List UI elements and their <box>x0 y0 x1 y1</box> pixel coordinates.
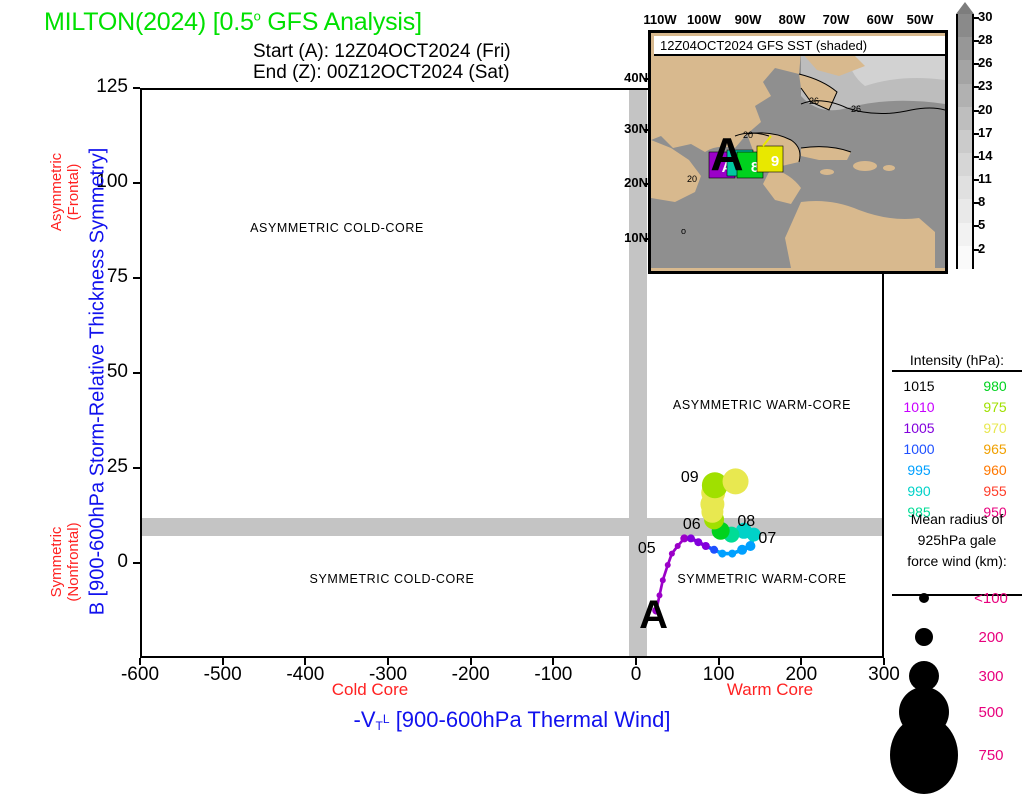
intensity-legend-row: 995960 <box>890 460 1024 481</box>
radius-dot <box>915 628 933 646</box>
intensity-legend-row: 1005970 <box>890 418 1024 439</box>
colorbar-label: 17 <box>978 125 992 140</box>
track-day-label-07: 07 <box>758 530 776 548</box>
x-tick-mark <box>387 658 389 665</box>
track-day-label-06: 06 <box>683 516 701 534</box>
intensity-value-right: 965 <box>972 439 1018 460</box>
map-lon-label: 100W <box>681 12 727 27</box>
colorbar-label: 14 <box>978 148 992 163</box>
x-axis-note-cold-core: Cold Core <box>280 680 460 700</box>
map-title: 12Z04OCT2024 GFS SST (shaded) <box>654 36 948 56</box>
map-lat-tick <box>644 183 650 185</box>
x-tick-mark <box>304 658 306 665</box>
colorbar-label: 30 <box>978 9 992 24</box>
colorbar-top-arrow <box>956 2 974 14</box>
sst-contour-label-20: 20 <box>743 130 753 140</box>
x-tick-mark <box>800 658 802 665</box>
colorbar-label: 11 <box>978 171 992 186</box>
track-point[interactable] <box>687 534 695 542</box>
map-lat-label: 40N <box>608 70 648 85</box>
intensity-legend-row: 1000965 <box>890 439 1024 460</box>
map-lat-label: 20N <box>608 175 648 190</box>
colorbar-segment <box>956 60 974 83</box>
sst-contour-label-26b: 26 <box>851 104 861 114</box>
x-tick-label: -600 <box>100 664 180 686</box>
colorbar-segment <box>956 153 974 176</box>
track-point[interactable] <box>665 562 671 568</box>
land-puerto-rico <box>883 165 895 171</box>
x-tick-label: -100 <box>513 664 593 686</box>
colorbar-segment <box>956 130 974 153</box>
colorbar-segment <box>956 37 974 60</box>
map-lat-label: 10N <box>608 230 648 245</box>
map-lon-label: 50W <box>897 12 943 27</box>
colorbar-label: 2 <box>978 241 985 256</box>
map-start-marker: A <box>710 128 743 180</box>
intensity-value-left: 990 <box>896 481 942 502</box>
track-point[interactable] <box>728 550 736 558</box>
land-hispaniola <box>853 161 877 171</box>
intensity-legend-title: Intensity (hPa): <box>890 352 1024 370</box>
x-tick-mark <box>139 658 141 665</box>
y-axis-note-asymmetric: Asymmetric(Frontal) <box>48 107 82 277</box>
sst-contour-label-20b: 20 <box>687 174 697 184</box>
track-point[interactable] <box>669 551 675 557</box>
colorbar-label: 20 <box>978 102 992 117</box>
track-point[interactable] <box>723 468 749 494</box>
x-tick-label: 0 <box>596 664 676 686</box>
track-point[interactable] <box>694 538 702 546</box>
x-tick-mark <box>552 658 554 665</box>
colorbar-segment <box>956 199 974 222</box>
intensity-value-left: 1000 <box>896 439 942 460</box>
x-axis-note-warm-core: Warm Core <box>680 680 860 700</box>
map-frame: 26262020oA89A 12Z04OCT2024 GFS SST (shad… <box>648 30 948 274</box>
intensity-value-right: 975 <box>972 397 1018 418</box>
colorbar-segment <box>956 14 974 37</box>
colorbar-segment <box>956 107 974 130</box>
colorbar-segment <box>956 84 974 107</box>
intensity-value-left: 1010 <box>896 397 942 418</box>
map-lat-tick <box>644 238 650 240</box>
colorbar-label: 23 <box>978 78 992 93</box>
y-tick-mark <box>133 182 140 184</box>
radius-legend-caption: Mean radius of 925hPa gale force wind (k… <box>890 509 1024 572</box>
intensity-value-right: 980 <box>972 376 1018 397</box>
track-point[interactable] <box>745 541 755 551</box>
map-marker-label-3: 9 <box>771 153 779 170</box>
intensity-value-left: 1005 <box>896 418 942 439</box>
map-lon-label: 110W <box>637 12 683 27</box>
x-tick-label: -500 <box>183 664 263 686</box>
colorbar-segment <box>956 176 974 199</box>
radius-caption-line-1: Mean radius of <box>890 509 1024 530</box>
radius-label: <100 <box>958 590 1024 607</box>
track-day-label-09: 09 <box>681 469 699 487</box>
x-tick-mark <box>222 658 224 665</box>
x-tick-mark <box>635 658 637 665</box>
map-lat-tick <box>644 78 650 80</box>
radius-caption-line-2: 925hPa gale <box>890 530 1024 551</box>
track-day-label-05: 05 <box>638 540 656 558</box>
end-time-label: End (Z): 00Z12OCT2024 (Sat) <box>253 62 510 84</box>
land-jamaica <box>820 169 834 175</box>
map-lon-label: 90W <box>725 12 771 27</box>
track-point[interactable] <box>702 542 710 550</box>
colorbar-label: 26 <box>978 55 992 70</box>
track-day-label-08: 08 <box>737 513 755 531</box>
map-lat-tick <box>644 129 650 131</box>
track-start-marker: A <box>639 595 668 635</box>
intensity-legend-row: 990955 <box>890 481 1024 502</box>
colorbar-label: 8 <box>978 194 985 209</box>
radius-dot-cell <box>890 716 958 794</box>
intensity-legend-row: 1015980 <box>890 376 1024 397</box>
colorbar-label: 5 <box>978 217 985 232</box>
map-lon-label: 70W <box>813 12 859 27</box>
intensity-value-right: 955 <box>972 481 1018 502</box>
radius-label: 300 <box>958 668 1024 685</box>
intensity-legend-rule <box>892 370 1022 372</box>
y-axis-title: B [900-600hPa Storm-Relative Thickness S… <box>87 102 110 662</box>
intensity-value-left: 1015 <box>896 376 942 397</box>
map-graphic: 26262020oA89A <box>651 52 945 268</box>
radius-legend-row: <100 <box>890 593 1024 603</box>
sst-colorbar: 3028262320171411852 <box>956 14 974 269</box>
sst-contour-label-26: 26 <box>809 96 819 106</box>
track-point[interactable] <box>660 577 666 583</box>
y-tick-mark <box>133 87 140 89</box>
intensity-legend-row: 1010975 <box>890 397 1024 418</box>
intensity-value-right: 970 <box>972 418 1018 439</box>
map-lon-label: 80W <box>769 12 815 27</box>
x-tick-mark <box>718 658 720 665</box>
radius-label: 750 <box>958 747 1024 764</box>
y-tick-mark <box>133 562 140 564</box>
intensity-legend-rows: 1015980101097510059701000965995960990955… <box>890 376 1024 523</box>
y-tick-mark <box>133 372 140 374</box>
x-tick-mark <box>470 658 472 665</box>
y-tick-mark <box>133 277 140 279</box>
intensity-value-right: 960 <box>972 460 1018 481</box>
y-axis-note-symmetric: Symmetric(Nonfrontal) <box>48 477 82 647</box>
sst-contour-label-o: o <box>681 226 686 236</box>
track-point[interactable] <box>718 550 726 558</box>
radius-dot-cell <box>890 628 958 646</box>
start-time-label: Start (A): 12Z04OCT2024 (Fri) <box>253 41 511 63</box>
page-title: MILTON(2024) [0.5o GFS Analysis] <box>44 8 422 37</box>
radius-dot <box>919 593 929 603</box>
colorbar-label: 28 <box>978 32 992 47</box>
y-tick-label: 125 <box>68 76 128 98</box>
inset-map: 26262020oA89A 12Z04OCT2024 GFS SST (shad… <box>648 30 948 274</box>
radius-dot-cell <box>890 593 958 603</box>
intensity-value-left: 995 <box>896 460 942 481</box>
x-tick-mark <box>883 658 885 665</box>
radius-legend-row: 200 <box>890 628 1024 646</box>
map-lat-label: 30N <box>608 121 648 136</box>
radius-legend-row: 750 <box>890 716 1024 794</box>
radius-dot <box>890 716 958 794</box>
radius-label: 200 <box>958 629 1024 646</box>
colorbar-segment <box>956 246 974 269</box>
y-tick-mark <box>133 467 140 469</box>
radius-caption-line-3: force wind (km): <box>890 551 1024 572</box>
x-axis-title: -VTL [900-600hPa Thermal Wind] <box>212 707 812 733</box>
colorbar-segment <box>956 223 974 246</box>
track-point[interactable] <box>710 546 718 554</box>
colorbar-bottom-arrow <box>956 269 974 281</box>
intensity-legend: Intensity (hPa): 10159801010975100597010… <box>890 352 1024 523</box>
track-point[interactable] <box>675 543 681 549</box>
